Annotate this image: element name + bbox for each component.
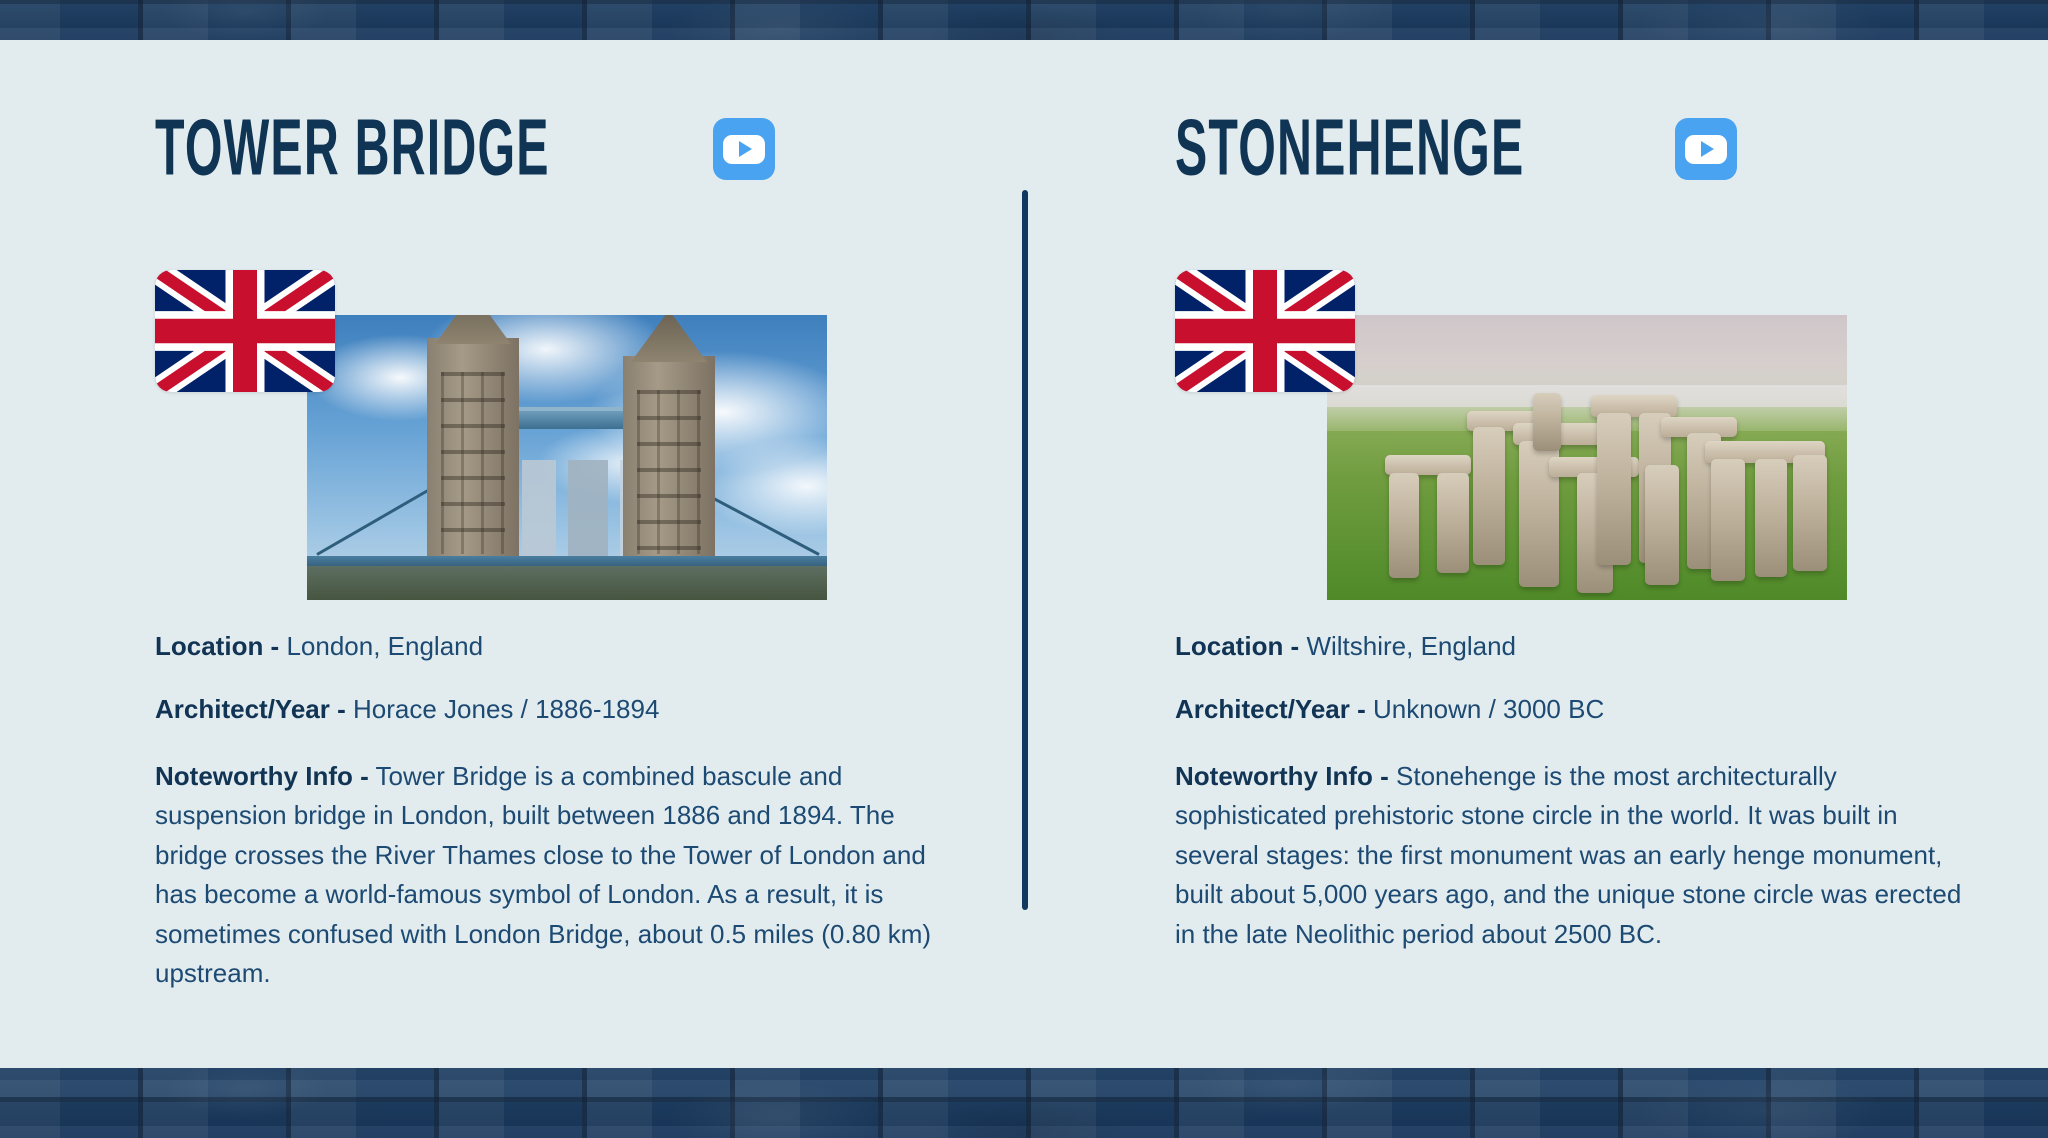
media-group-tower-bridge xyxy=(155,270,715,600)
bottom-brick-band xyxy=(0,1068,2048,1138)
fact-architect-year-tower-bridge: Architect/Year - Horace Jones / 1886-189… xyxy=(155,693,945,726)
fact-list-tower-bridge: Location - London, England Architect/Yea… xyxy=(155,630,945,994)
heading-row-stonehenge: STONEHENGE xyxy=(1175,118,1737,180)
value-noteworthy-tower-bridge: Tower Bridge is a combined bascule and s… xyxy=(155,761,931,989)
brick-mottle xyxy=(0,1068,2048,1138)
landmark-photo-tower-bridge xyxy=(307,315,827,600)
fact-location-tower-bridge: Location - London, England xyxy=(155,630,945,663)
fact-noteworthy-stonehenge: Noteworthy Info - Stonehenge is the most… xyxy=(1175,757,1965,955)
fact-location-stonehenge: Location - Wiltshire, England xyxy=(1175,630,1965,663)
photo-standing-stone xyxy=(1645,465,1679,585)
photo-standing-stone xyxy=(1597,413,1631,565)
label-noteworthy: Noteworthy Info - xyxy=(155,761,369,791)
photo-standing-stone xyxy=(1473,427,1505,565)
photo-standing-stone xyxy=(1755,459,1787,577)
landmark-column-tower-bridge: TOWER BRIDGE xyxy=(155,40,1055,1068)
page-title-stonehenge: STONEHENGE xyxy=(1175,109,1524,188)
value-location-stonehenge: Wiltshire, England xyxy=(1306,631,1516,661)
photo-standing-stone xyxy=(1533,393,1561,451)
photo-lintel xyxy=(1385,455,1471,475)
value-architect-year-tower-bridge: Horace Jones / 1886-1894 xyxy=(353,694,659,724)
youtube-icon-stonehenge[interactable] xyxy=(1675,118,1737,180)
fact-noteworthy-tower-bridge: Noteworthy Info - Tower Bridge is a comb… xyxy=(155,757,945,994)
content-columns: TOWER BRIDGE xyxy=(0,40,2048,1068)
label-location: Location - xyxy=(1175,631,1299,661)
landmark-photo-stonehenge xyxy=(1327,315,1847,600)
value-location-tower-bridge: London, England xyxy=(286,631,483,661)
youtube-icon-tower-bridge[interactable] xyxy=(713,118,775,180)
top-brick-band xyxy=(0,0,2048,40)
uk-flag-icon-stonehenge xyxy=(1175,270,1355,392)
fact-architect-year-stonehenge: Architect/Year - Unknown / 3000 BC xyxy=(1175,693,1965,726)
photo-standing-stone xyxy=(1389,473,1419,578)
label-location: Location - xyxy=(155,631,279,661)
slide-root: TOWER BRIDGE xyxy=(0,0,2048,1138)
play-triangle-icon xyxy=(739,141,752,157)
youtube-icon-screen xyxy=(1685,135,1727,164)
page-title-tower-bridge: TOWER BRIDGE xyxy=(155,109,550,188)
photo-bridge-tower-left xyxy=(427,338,519,570)
fact-list-stonehenge: Location - Wiltshire, England Architect/… xyxy=(1175,630,1965,954)
play-triangle-icon xyxy=(1701,141,1714,157)
media-group-stonehenge xyxy=(1175,270,1735,600)
label-architect-year: Architect/Year - xyxy=(155,694,346,724)
label-architect-year: Architect/Year - xyxy=(1175,694,1366,724)
photo-standing-stone xyxy=(1711,459,1745,581)
heading-row-tower-bridge: TOWER BRIDGE xyxy=(155,118,775,180)
photo-riverbank xyxy=(307,566,827,600)
youtube-icon-screen xyxy=(723,135,765,164)
uk-flag-icon-tower-bridge xyxy=(155,270,335,392)
photo-standing-stone xyxy=(1793,455,1827,571)
value-architect-year-stonehenge: Unknown / 3000 BC xyxy=(1373,694,1604,724)
landmark-column-stonehenge: STONEHENGE xyxy=(1175,40,2048,1068)
brick-mottle xyxy=(0,0,2048,40)
photo-stone-circle xyxy=(1327,315,1847,600)
label-noteworthy: Noteworthy Info - xyxy=(1175,761,1389,791)
photo-standing-stone xyxy=(1437,473,1469,573)
photo-bridge-tower-right xyxy=(623,356,715,570)
